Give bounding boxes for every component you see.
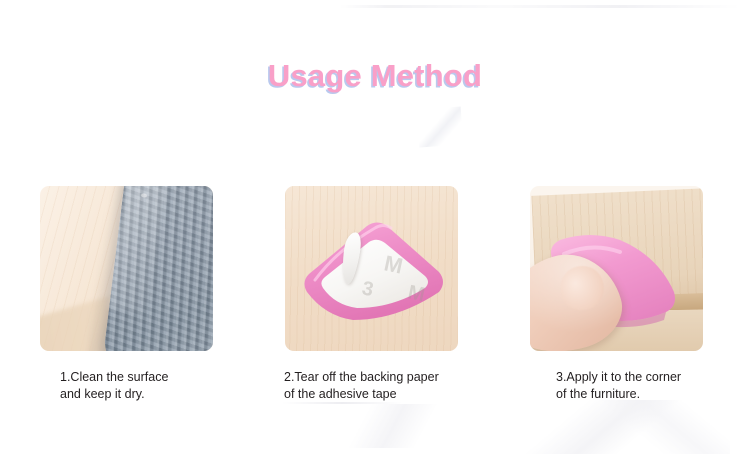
background-watermark-top: [417, 107, 464, 148]
usage-method-section: Usage Method 1.Clean the surface and kee…: [0, 0, 750, 454]
step-caption-3: 3.Apply it to the corner of the furnitur…: [556, 369, 681, 403]
step-photo-2: M 3 M: [285, 186, 458, 351]
step-caption-2: 2.Tear off the backing paper of the adhe…: [284, 369, 439, 403]
step-photo-3: [530, 186, 703, 351]
page-title: Usage Method: [0, 58, 750, 94]
top-section-divider-artifact: [340, 5, 740, 8]
background-watermark-bottom-left: [300, 404, 480, 448]
photo-tear-backing-paper: M 3 M: [285, 186, 458, 351]
photo-apply-to-corner: [530, 186, 703, 351]
step-photo-1: [40, 186, 213, 351]
pink-corner-guard: M 3 M: [297, 216, 447, 328]
step-caption-1: 1.Clean the surface and keep it dry.: [60, 369, 168, 403]
svg-text:M: M: [406, 281, 427, 306]
background-watermark-bottom-right: [500, 400, 730, 454]
photo-clean-surface: [40, 186, 213, 351]
